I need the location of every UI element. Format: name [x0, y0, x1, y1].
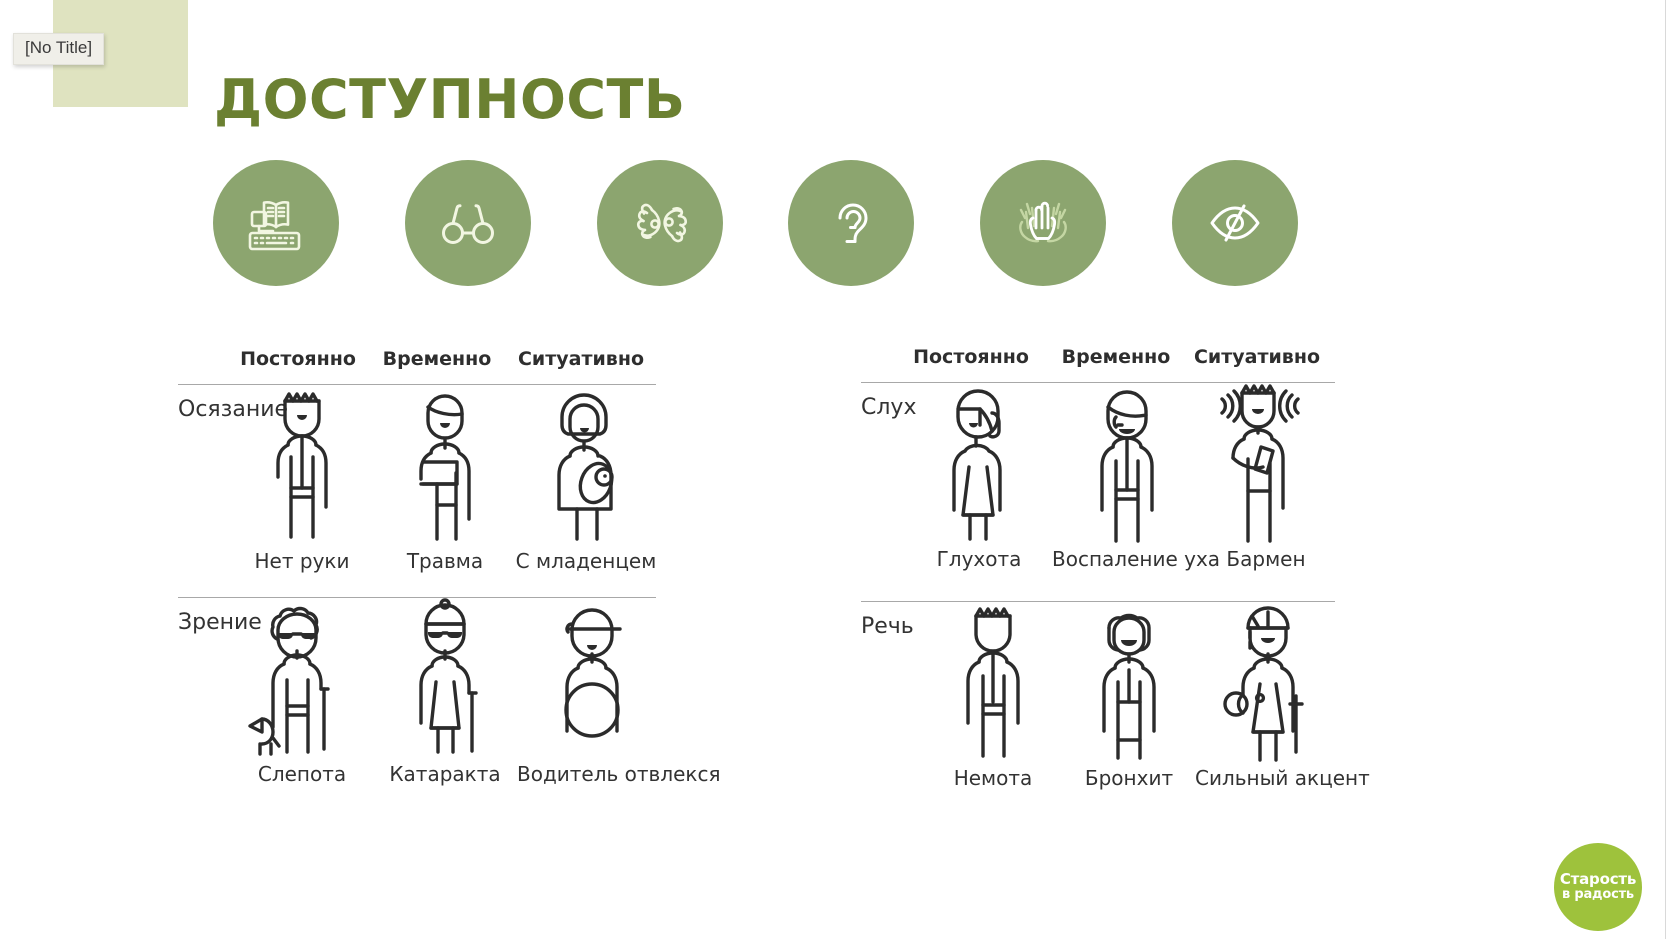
- icon-circle-1[interactable]: [213, 160, 339, 286]
- cell-with-baby[interactable]: С младенцем: [511, 385, 661, 573]
- cell-blindness[interactable]: Слепота: [227, 598, 377, 786]
- deaf-woman-figure: [904, 383, 1054, 543]
- cell-no-arm[interactable]: Нет руки: [227, 385, 377, 573]
- cell-caption: Сильный акцент: [1195, 766, 1345, 790]
- cell-deafness[interactable]: Глухота: [904, 383, 1054, 571]
- right-gutter: [1666, 0, 1680, 939]
- column-header-permanent: Постоянно: [913, 346, 1029, 368]
- organization-logo[interactable]: Старость в радость: [1554, 843, 1642, 931]
- icon-circle-3[interactable]: [597, 160, 723, 286]
- man-with-ear-infection-figure: [1052, 383, 1202, 543]
- slide-canvas: [No Title] ДОСТУПНОСТЬ: [0, 0, 1666, 939]
- band-vision: Зрение: [178, 598, 656, 814]
- cell-caption: Нет руки: [227, 549, 377, 573]
- distracted-driver-figure: [517, 598, 667, 758]
- cell-strong-accent[interactable]: Сильный акцент: [1195, 602, 1345, 790]
- applause-hands-icon: [1008, 188, 1078, 258]
- blind-person-with-guide-dog-figure: [227, 598, 377, 758]
- icon-circle-6[interactable]: [1172, 160, 1298, 286]
- column-header-situational: Ситуативно: [1194, 346, 1320, 368]
- cell-caption: Бронхит: [1054, 766, 1204, 790]
- man-arm-in-sling-figure: [370, 385, 520, 545]
- cell-caption: Катаракта: [370, 762, 520, 786]
- cell-caption: Глухота: [904, 547, 1054, 571]
- page-title: ДОСТУПНОСТЬ: [214, 69, 686, 131]
- eye-crossed-out-icon: [1200, 188, 1270, 258]
- no-title-chip[interactable]: [No Title]: [13, 33, 104, 65]
- accessibility-icon-row: [213, 160, 1298, 286]
- elderly-woman-with-cataract-figure: [370, 598, 520, 758]
- icon-circle-2[interactable]: [405, 160, 531, 286]
- cell-distracted-driver[interactable]: Водитель отвлекся: [517, 598, 667, 786]
- mute-man-figure: [918, 602, 1068, 762]
- band-hearing: Слух: [861, 383, 1335, 601]
- cell-cataract[interactable]: Катаракта: [370, 598, 520, 786]
- woman-with-strong-accent-figure: [1195, 602, 1345, 762]
- cell-bronchitis[interactable]: Бронхит: [1054, 602, 1204, 790]
- cell-mutism[interactable]: Немота: [918, 602, 1068, 790]
- column-header-permanent: Постоянно: [240, 348, 356, 370]
- eyeglasses-icon: [433, 188, 503, 258]
- column-header-temporary: Временно: [1062, 346, 1171, 368]
- computer-keyboard-reading-icon: [241, 188, 311, 258]
- logo-line-2: в радость: [1562, 888, 1634, 902]
- person-with-bronchitis-figure: [1054, 602, 1204, 762]
- icon-circle-4[interactable]: [788, 160, 914, 286]
- woman-holding-baby-figure: [511, 385, 661, 545]
- cell-caption: Немота: [918, 766, 1068, 790]
- cell-ear-infection[interactable]: Воспаление уха: [1052, 383, 1202, 571]
- bartender-in-noise-figure: [1191, 383, 1341, 543]
- ear-icon: [816, 188, 886, 258]
- logo-line-1: Старость: [1560, 872, 1636, 888]
- band-speech: Речь: [861, 602, 1335, 818]
- cell-caption: Водитель отвлекся: [517, 762, 667, 786]
- cell-caption: Воспаление уха: [1052, 547, 1202, 571]
- table-left: Постоянно Временно Ситуативно Осязание: [178, 348, 656, 814]
- cell-bartender[interactable]: Бармен: [1191, 383, 1341, 571]
- column-header-temporary: Временно: [383, 348, 492, 370]
- cell-injury[interactable]: Травма: [370, 385, 520, 573]
- sign-language-hands-icon: [625, 188, 695, 258]
- table-right: Постоянно Временно Ситуативно Слух: [861, 346, 1335, 818]
- band-touch: Осязание: [178, 385, 656, 597]
- icon-circle-5[interactable]: [980, 160, 1106, 286]
- column-header-situational: Ситуативно: [518, 348, 644, 370]
- cell-caption: Травма: [370, 549, 520, 573]
- cell-caption: С младенцем: [511, 549, 661, 573]
- cell-caption: Бармен: [1191, 547, 1341, 571]
- cell-caption: Слепота: [227, 762, 377, 786]
- man-missing-arm-figure: [227, 385, 377, 545]
